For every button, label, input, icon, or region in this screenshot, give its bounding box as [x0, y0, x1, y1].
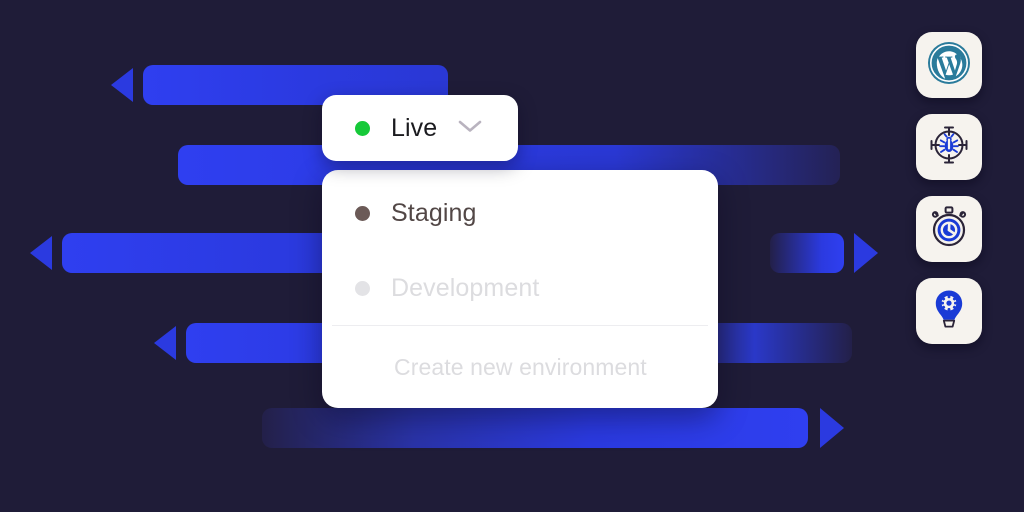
menu-item-development-label: Development: [391, 274, 539, 303]
menu-divider: [332, 325, 708, 326]
live-status-dot-icon: [355, 121, 370, 136]
lightbulb-gear-icon-tile[interactable]: [916, 278, 982, 344]
decor-arrow-right-icon: [854, 233, 878, 273]
menu-item-staging[interactable]: Staging: [322, 185, 718, 241]
environment-selector-menu[interactable]: Staging Development Create new environme…: [322, 170, 718, 408]
decor-bar: [262, 408, 808, 448]
bug-target-icon: [925, 121, 973, 174]
staging-status-dot-icon: [355, 206, 370, 221]
stopwatch-icon-tile[interactable]: [916, 196, 982, 262]
lightbulb-gear-icon: [925, 285, 973, 338]
decor-arrow-left-icon: [111, 68, 133, 102]
decor-bar: [770, 233, 844, 273]
chevron-down-icon[interactable]: [457, 118, 483, 139]
environment-selector-trigger[interactable]: Live: [322, 95, 518, 161]
decor-arrow-left-icon: [154, 326, 176, 360]
environment-trigger-label: Live: [391, 114, 437, 143]
development-status-dot-icon: [355, 281, 370, 296]
promo-canvas: Live Staging Development Create new envi…: [0, 0, 1024, 512]
bug-target-icon-tile[interactable]: [916, 114, 982, 180]
icon-rail: [916, 32, 982, 344]
stopwatch-icon: [925, 203, 973, 256]
wordpress-icon-tile[interactable]: [916, 32, 982, 98]
decor-arrow-left-icon: [30, 236, 52, 270]
menu-item-development[interactable]: Development: [322, 260, 718, 316]
menu-item-staging-label: Staging: [391, 199, 477, 228]
decor-arrow-right-icon: [820, 408, 844, 448]
wordpress-icon: [925, 39, 973, 92]
create-new-environment-button[interactable]: Create new environment: [322, 340, 718, 394]
